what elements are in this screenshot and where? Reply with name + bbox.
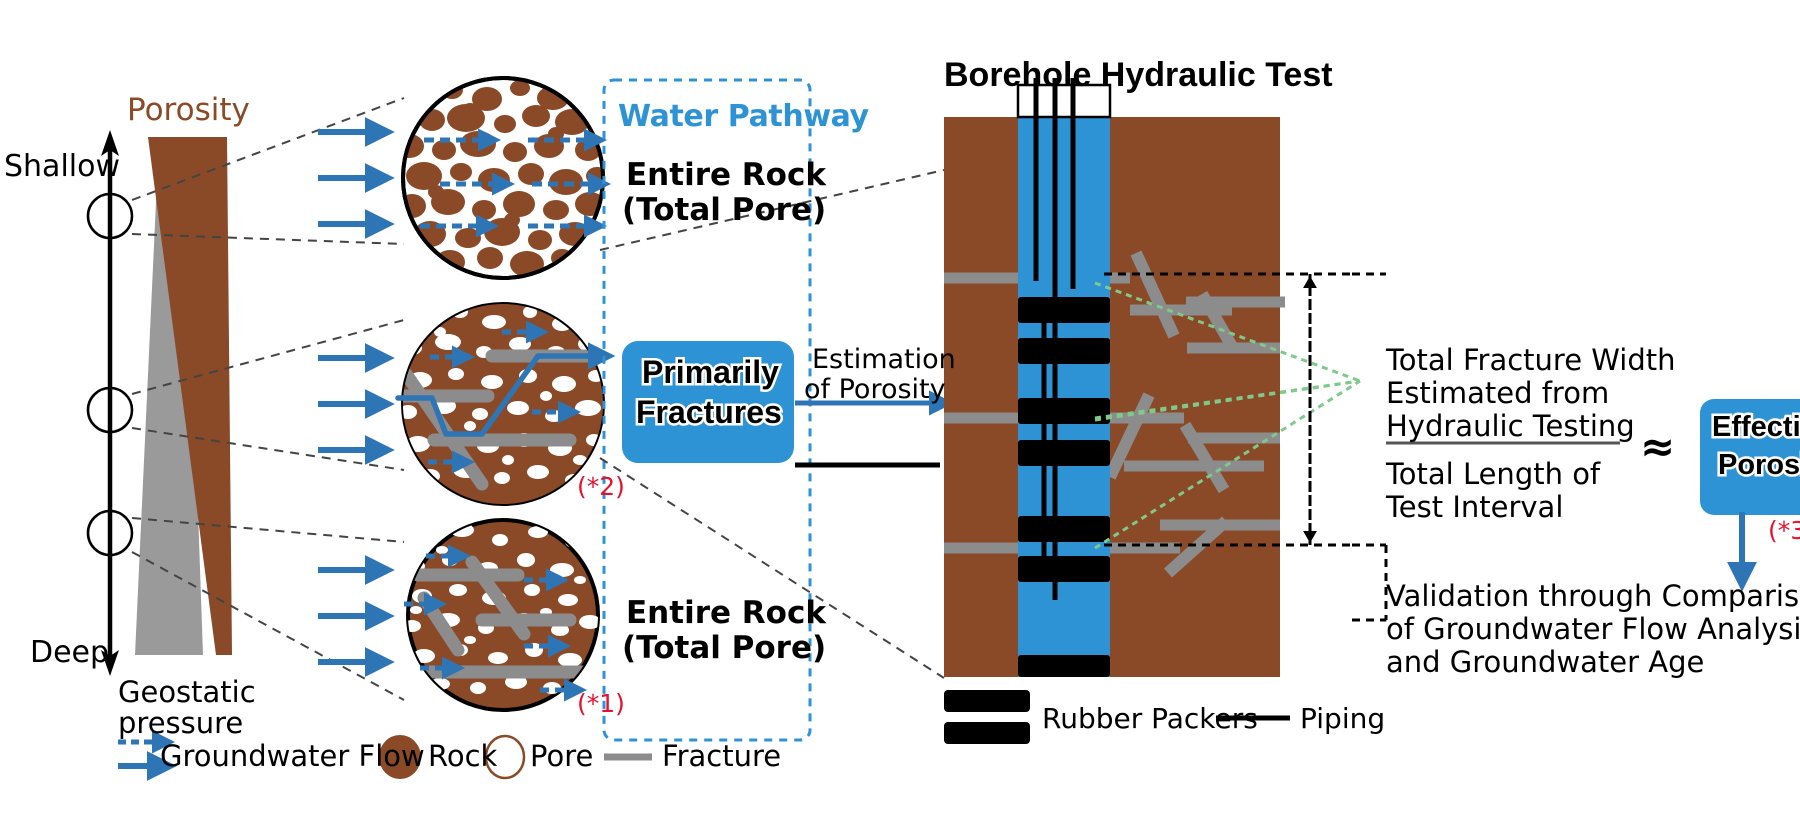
diagram-canvas: Shallow Deep Porosity Geostatic pressure… (0, 0, 1800, 824)
deep-label: Deep (30, 636, 109, 670)
formula-denominator-line1: Total Length of (1386, 458, 1600, 490)
legend-fracture-label: Fracture (662, 740, 781, 772)
shallow-label: Shallow (4, 150, 120, 184)
geostatic-caption-line2: pressure (118, 707, 243, 739)
porosity-label: Porosity (127, 93, 250, 128)
borehole-title: Borehole Hydraulic Test (944, 56, 1333, 94)
rock-sample-intermediate (318, 300, 610, 510)
estimation-arrow (795, 403, 940, 465)
entire-rock-top-line2: (Total Pore) (622, 193, 826, 228)
note-deep-sample: (*1) (577, 690, 625, 718)
note-intermediate-sample: (*2) (577, 473, 625, 501)
estimation-label-line2: of Porosity (804, 375, 946, 405)
formula-numerator-line3: Hydraulic Testing (1386, 410, 1635, 442)
primarily-fractures-line2[interactable]: Fractures (636, 395, 782, 431)
legend-pore-label: Pore (530, 740, 593, 772)
geostatic-caption-line1: Geostatic (118, 676, 256, 708)
formula-numerator-line1: Total Fracture Width (1386, 344, 1676, 376)
legend-groundwater-flow-label: Groundwater Flow (160, 740, 425, 772)
borehole-diagram (944, 78, 1386, 677)
entire-rock-top-line1: Entire Rock (626, 158, 826, 193)
entire-rock-bottom-line2: (Total Pore) (622, 631, 826, 666)
inflow-arrows-deep (318, 570, 378, 662)
rock-sample-deep (318, 520, 601, 710)
effective-porosity-line1[interactable]: Effective (1712, 411, 1800, 443)
formula-denominator-line2: Test Interval (1386, 491, 1563, 523)
rock-sample-shallow (318, 78, 610, 278)
depth-axis (88, 130, 132, 676)
estimation-label-line1: Estimation (812, 345, 956, 375)
validation-line1: Validation through Comparison (1386, 580, 1800, 612)
legend-rock-label: Rock (428, 740, 497, 772)
inflow-arrows-intermediate (318, 358, 378, 450)
validation-line2: of Groundwater Flow Analysis (1386, 613, 1800, 645)
note-effective-porosity: (*3) (1768, 517, 1800, 545)
effective-porosity-line2[interactable]: Porosity (1718, 449, 1800, 481)
formula-numerator-line2: Estimated from (1386, 377, 1609, 409)
entire-rock-bottom-line1: Entire Rock (626, 596, 826, 631)
validation-line3: and Groundwater Age (1386, 646, 1704, 678)
primarily-fractures-line1[interactable]: Primarily (642, 355, 779, 391)
water-pathway-title: Water Pathway (618, 100, 869, 134)
legend-rubber-packers-label: Rubber Packers (1042, 703, 1258, 734)
approx-equals-symbol: ≈ (1640, 423, 1675, 470)
inflow-arrows-shallow (318, 132, 378, 224)
legend-piping-label: Piping (1300, 703, 1385, 734)
